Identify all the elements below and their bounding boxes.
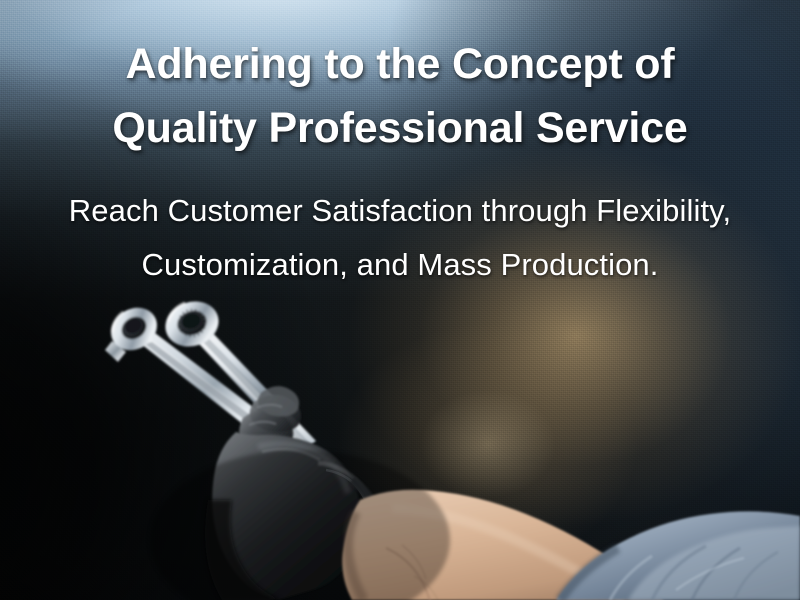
subheadline-line-1: Reach Customer Satisfaction through Flex… (0, 184, 800, 238)
headline: Adhering to the Concept of Quality Profe… (0, 0, 800, 160)
promo-banner: Adhering to the Concept of Quality Profe… (0, 0, 800, 600)
headline-line-2: Quality Professional Service (0, 96, 800, 160)
subheadline-line-2: Customization, and Mass Production. (0, 238, 800, 292)
headline-line-1: Adhering to the Concept of (0, 32, 800, 96)
banner-text-block: Adhering to the Concept of Quality Profe… (0, 0, 800, 292)
subheadline: Reach Customer Satisfaction through Flex… (0, 160, 800, 292)
